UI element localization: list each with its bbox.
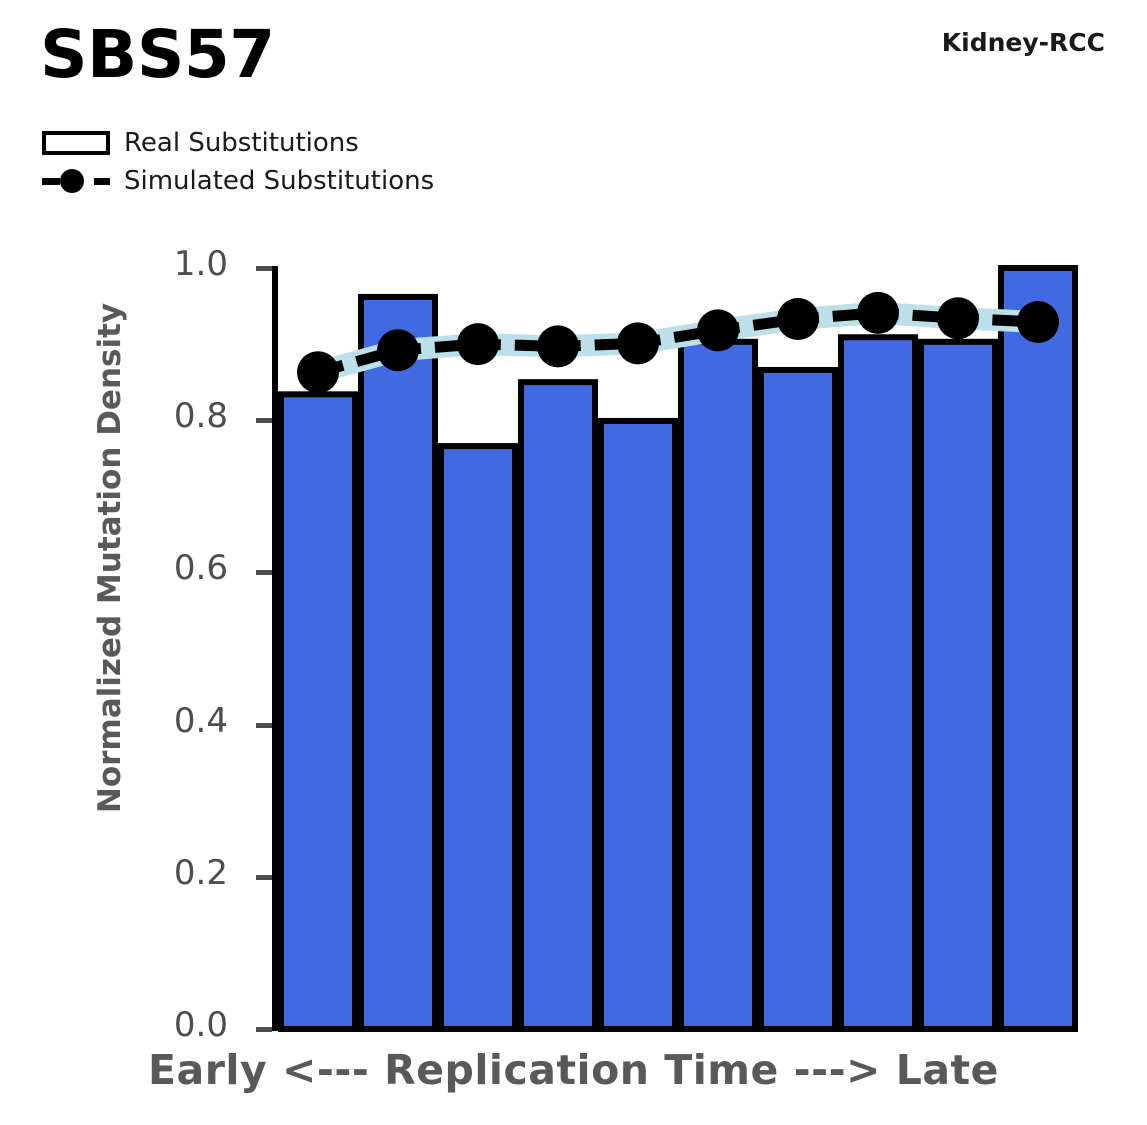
- y-axis-tick: [256, 1027, 272, 1032]
- legend-item-label: Real Substitutions: [124, 128, 359, 158]
- x-axis-label: Early <--- Replication Time ---> Late: [0, 1046, 1147, 1094]
- bar: [601, 421, 675, 1029]
- y-axis-tick: [256, 266, 272, 271]
- page-title: SBS57: [40, 22, 275, 88]
- bar: [921, 342, 995, 1029]
- plot-area: [278, 268, 1078, 1029]
- y-axis-tick: [256, 570, 272, 575]
- legend-bar-swatch-icon: [42, 131, 110, 155]
- bar: [681, 342, 755, 1029]
- bar: [1001, 268, 1075, 1029]
- bar: [841, 337, 915, 1029]
- simulated-marker: [697, 309, 739, 351]
- y-axis-tick-label: 0.8: [128, 396, 228, 436]
- simulated-marker: [457, 323, 499, 365]
- bar: [281, 394, 355, 1029]
- y-axis-tick: [256, 723, 272, 728]
- chart-figure: SBS57 Kidney-RCC Real Substitutions Simu…: [0, 0, 1147, 1125]
- simulated-marker: [377, 329, 419, 371]
- simulated-marker: [1017, 301, 1059, 343]
- legend-item-simulated-substitutions: Simulated Substitutions: [42, 162, 602, 200]
- plot-svg: [278, 268, 1078, 1029]
- legend-line-swatch-icon: [42, 169, 110, 193]
- y-axis-tick: [256, 418, 272, 423]
- simulated-marker: [777, 298, 819, 340]
- chart-legend: Real Substitutions Simulated Substitutio…: [42, 124, 602, 200]
- y-axis-tick-label: 0.6: [128, 548, 228, 588]
- y-axis-label: Normalized Mutation Density: [92, 208, 128, 908]
- legend-item-label: Simulated Substitutions: [124, 166, 434, 196]
- simulated-marker: [297, 351, 339, 393]
- simulated-marker: [617, 322, 659, 364]
- simulated-marker: [937, 297, 979, 339]
- bar: [441, 446, 515, 1029]
- bar: [521, 382, 595, 1029]
- legend-item-real-substitutions: Real Substitutions: [42, 124, 602, 162]
- y-axis-tick-label: 0.4: [128, 701, 228, 741]
- y-axis-tick-label: 0.2: [128, 853, 228, 893]
- simulated-marker: [857, 292, 899, 334]
- y-axis-tick-label: 1.0: [128, 244, 228, 284]
- simulated-marker: [537, 325, 579, 367]
- bar: [761, 370, 835, 1029]
- y-axis-tick: [256, 875, 272, 880]
- bar: [361, 297, 435, 1029]
- sample-type-label: Kidney-RCC: [942, 28, 1105, 57]
- y-axis-tick-label: 0.0: [128, 1005, 228, 1045]
